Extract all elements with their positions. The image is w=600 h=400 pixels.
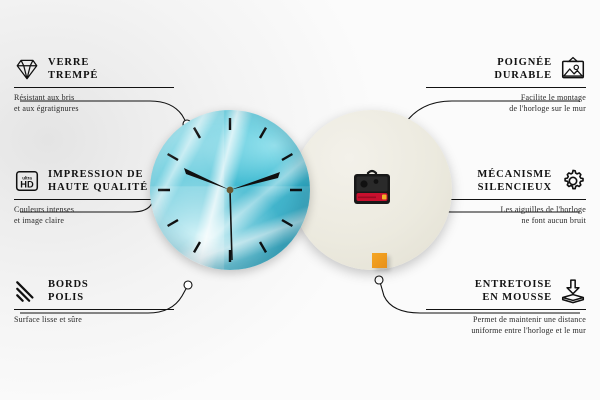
title-line-2: POLIS — [48, 291, 89, 304]
feature-title: IMPRESSION DE HAUTE QUALITÉ — [48, 168, 148, 195]
callout-dot-bords — [184, 281, 192, 289]
desc-line-1: Permet de maintenir une distance — [426, 314, 586, 326]
title-line-1: BORDS — [48, 278, 89, 291]
foam-spacer-sample — [372, 253, 387, 268]
feature-entretoise-en-mousse[interactable]: ENTRETOISE EN MOUSSE Permet de maintenir… — [426, 278, 586, 337]
desc-line-1: Résistant aux bris — [14, 92, 174, 104]
picture-frame-hanger-icon — [560, 56, 586, 82]
title-line-2: SILENCIEUX — [477, 181, 552, 194]
feature-header: BORDS POLIS — [14, 278, 174, 305]
title-line-2: DURABLE — [494, 69, 552, 82]
title-line-1: MÉCANISME — [477, 168, 552, 181]
feature-description: Facilite le montage de l'horloge sur le … — [426, 92, 586, 115]
gear-icon — [560, 168, 586, 194]
title-line-1: VERRE — [48, 56, 98, 69]
foam-spacer-arrow-icon — [560, 278, 586, 304]
callout-dot-entretoise — [375, 276, 383, 284]
hd-label: HD — [20, 180, 34, 190]
feature-title: POIGNÉE DURABLE — [494, 56, 552, 83]
feature-bords-polis[interactable]: BORDS POLIS Surface lisse et sûre — [14, 278, 174, 325]
ultra-hd-icon: ultra HD — [14, 168, 40, 194]
title-line-1: POIGNÉE — [494, 56, 552, 69]
divider — [426, 309, 586, 310]
divider — [14, 87, 174, 88]
clock-mechanism — [352, 167, 392, 207]
feature-title: VERRE TREMPÉ — [48, 56, 98, 83]
feature-header: VERRE TREMPÉ — [14, 56, 174, 83]
title-line-1: ENTRETOISE — [475, 278, 552, 291]
title-line-2: EN MOUSSE — [475, 291, 552, 304]
feature-header: POIGNÉE DURABLE — [426, 56, 586, 83]
desc-line-1: Facilite le montage — [426, 92, 586, 104]
desc-line-1: Surface lisse et sûre — [14, 314, 174, 326]
infographic-canvas: VERRE TREMPÉ Résistant aux bris et aux é… — [0, 0, 600, 400]
glass-vignette — [150, 110, 310, 270]
feature-description: Surface lisse et sûre — [14, 314, 174, 326]
diagonal-lines-icon — [14, 278, 40, 304]
feature-verre-trempe[interactable]: VERRE TREMPÉ Résistant aux bris et aux é… — [14, 56, 174, 115]
desc-line-2: ne font aucun bruit — [426, 215, 586, 227]
feature-header: ENTRETOISE EN MOUSSE — [426, 278, 586, 305]
title-line-2: HAUTE QUALITÉ — [48, 181, 148, 194]
clock-front-face — [150, 110, 310, 270]
desc-line-2: de l'horloge sur le mur — [426, 103, 586, 115]
diamond-icon — [14, 56, 40, 82]
feature-title: MÉCANISME SILENCIEUX — [477, 168, 552, 195]
title-line-1: IMPRESSION DE — [48, 168, 148, 181]
desc-line-2: uniforme entre l'horloge et le mur — [426, 325, 586, 337]
divider — [14, 309, 174, 310]
feature-description: Permet de maintenir une distance uniform… — [426, 314, 586, 337]
feature-title: BORDS POLIS — [48, 278, 89, 305]
feature-poignee-durable[interactable]: POIGNÉE DURABLE Facilite le montage de l… — [426, 56, 586, 115]
title-line-2: TREMPÉ — [48, 69, 98, 82]
divider — [426, 87, 586, 88]
feature-title: ENTRETOISE EN MOUSSE — [475, 278, 552, 305]
